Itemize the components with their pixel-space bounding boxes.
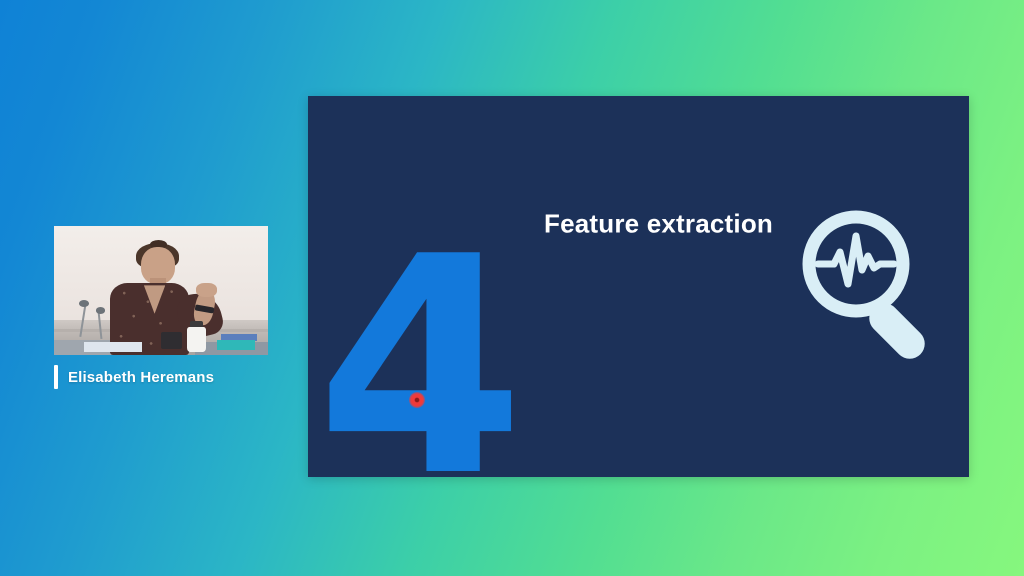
papers-on-desk xyxy=(84,342,142,352)
slide-section-number: 4 xyxy=(316,218,517,477)
slide-surface[interactable]: 4 Feature extraction xyxy=(308,96,969,477)
microphone-head-left xyxy=(79,300,90,307)
teal-item-on-desk xyxy=(217,340,256,350)
speaker-name-label: Elisabeth Heremans xyxy=(68,369,214,386)
speaker-name-caption: Elisabeth Heremans xyxy=(54,364,214,390)
magnifier-waveform-icon xyxy=(798,206,944,366)
speaker-video-panel[interactable] xyxy=(54,226,268,355)
microphone-head-right xyxy=(96,307,106,313)
slide-title: Feature extraction xyxy=(544,209,773,240)
speaker-webcam-feed[interactable] xyxy=(54,226,268,355)
caption-accent-bar xyxy=(54,365,58,389)
presenter-hand xyxy=(196,283,216,297)
presentation-stage: Elisabeth Heremans 4 Feature extraction xyxy=(0,0,1024,576)
water-bottle xyxy=(187,327,206,353)
dark-device-on-desk xyxy=(161,332,182,349)
